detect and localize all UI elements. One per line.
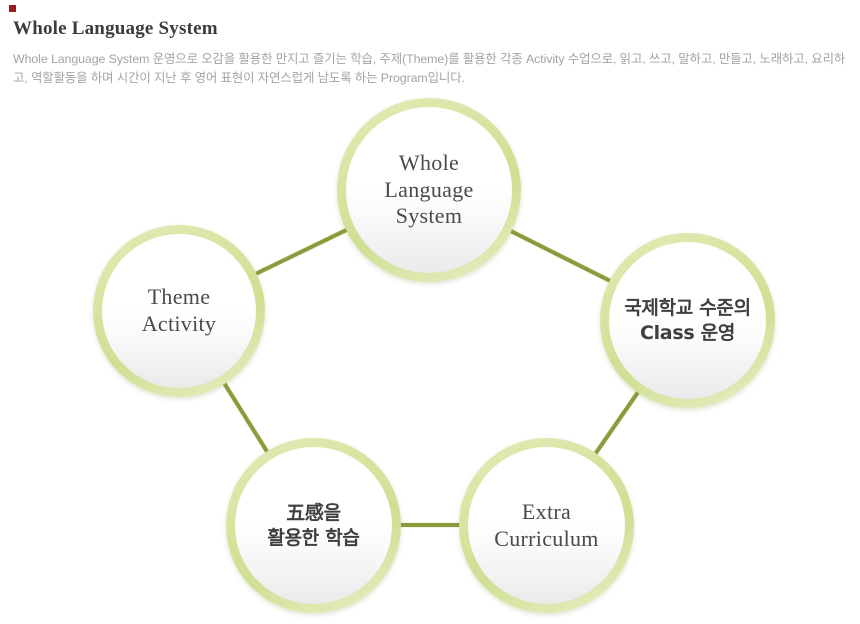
node-extra-curriculum[interactable]: Extra Curriculum [459,438,634,613]
node-label: Theme Activity [142,284,217,338]
node-label: 五感을 활용한 학습 [267,501,359,550]
node-label: Whole Language System [384,150,473,230]
pentagon-diagram: Whole Language System 국제학교 수준의 Class 운영 … [0,0,860,624]
node-theme-activity[interactable]: Theme Activity [93,225,265,397]
node-five-senses-learning[interactable]: 五感을 활용한 학습 [226,438,401,613]
node-label: Extra Curriculum [494,499,598,553]
node-whole-language-system[interactable]: Whole Language System [337,98,521,282]
node-international-class[interactable]: 국제학교 수준의 Class 운영 [600,233,775,408]
node-label: 국제학교 수준의 Class 운영 [624,296,751,345]
